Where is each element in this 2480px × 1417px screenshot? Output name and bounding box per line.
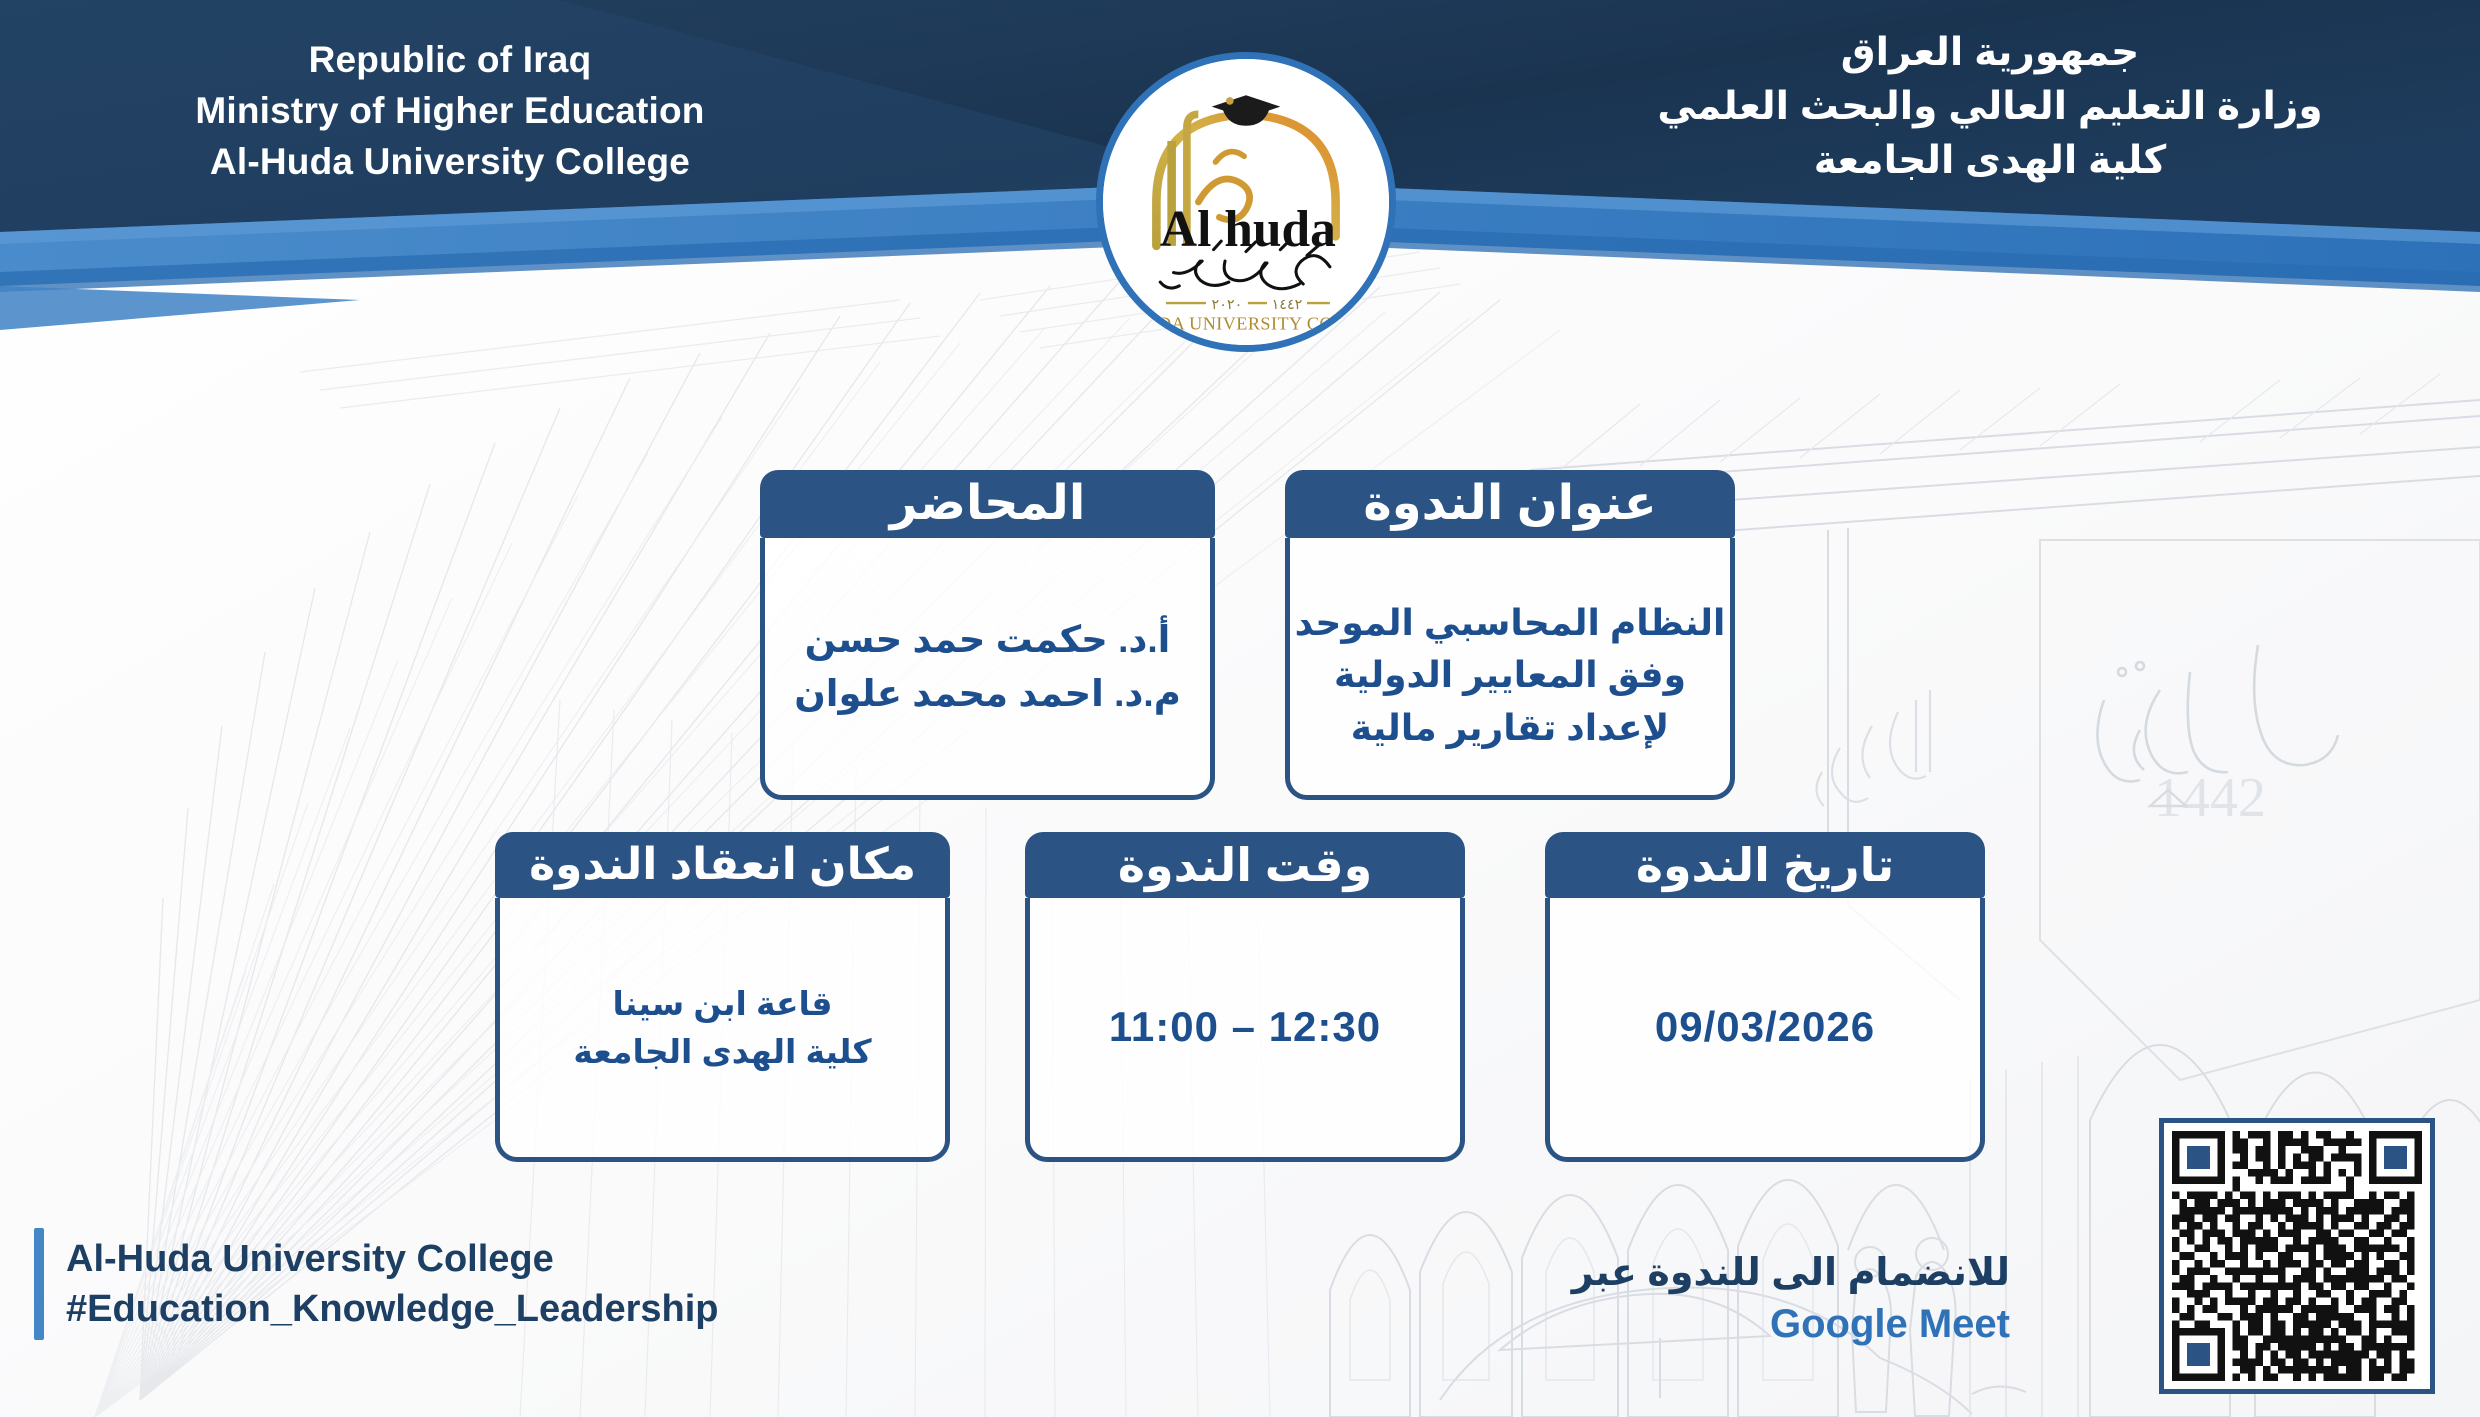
card-date: تاريخ الندوة 09/03/2026 <box>1545 832 1985 1162</box>
card-lecturer-line-1: أ.د. حكمت حمد حسن <box>805 613 1171 667</box>
join-arabic-label: للانضمام الى للندوة عبر <box>1572 1250 2010 1298</box>
card-seminar-title-body: النظام المحاسبي الموحد وفق المعايير الدو… <box>1285 538 1735 800</box>
card-venue: مكان انعقاد الندوة قاعة ابن سينا كلية ال… <box>495 832 950 1162</box>
card-lecturer: المحاضر أ.د. حكمت حمد حسن م.د. احمد محمد… <box>760 470 1215 800</box>
footer-college-name: Al-Huda University College <box>66 1234 718 1284</box>
card-lecturer-title: المحاضر <box>760 470 1215 538</box>
header-english-block: Republic of Iraq Ministry of Higher Educ… <box>0 34 900 187</box>
footer-brand-block: Al-Huda University College #Education_Kn… <box>34 1228 718 1340</box>
card-venue-body: قاعة ابن سينا كلية الهدى الجامعة <box>495 898 950 1162</box>
card-lecturer-body: أ.د. حكمت حمد حسن م.د. احمد محمد علوان <box>760 538 1215 800</box>
header-arabic-block: جمهورية العراق وزارة التعليم العالي والب… <box>1560 26 2420 187</box>
logo-caption: AL-HUDA UNIVERSITY COLLEGE <box>1103 314 1389 334</box>
logo-year-hijri: ١٤٤٢ <box>1272 297 1303 313</box>
card-date-title: تاريخ الندوة <box>1545 832 1985 898</box>
card-lecturer-line-2: م.د. احمد محمد علوان <box>794 667 1181 721</box>
card-seminar-title-line-2: وفق المعايير الدولية <box>1334 649 1686 701</box>
university-logo: Al huda ٢٠٢٠ ١٤٤٢ AL-HUDA UNIV <box>1096 52 1396 352</box>
header-ar-line-2: وزارة التعليم العالي والبحث العلمي <box>1560 80 2420 134</box>
card-venue-line-1: قاعة ابن سينا <box>612 980 832 1028</box>
logo-year-gregorian: ٢٠٢٠ <box>1212 297 1243 313</box>
header-en-line-2: Ministry of Higher Education <box>0 85 900 136</box>
header-ar-line-1: جمهورية العراق <box>1560 26 2420 80</box>
header-en-line-1: Republic of Iraq <box>0 34 900 85</box>
header-en-line-3: Al-Huda University College <box>0 136 900 187</box>
footer-accent-bar <box>34 1228 44 1340</box>
footer-hashtag: #Education_Knowledge_Leadership <box>66 1284 718 1334</box>
card-venue-title: مكان انعقاد الندوة <box>495 832 950 898</box>
join-platform-label[interactable]: Google Meet <box>1572 1298 2010 1350</box>
card-seminar-title-line-3: لإعداد تقارير مالية <box>1351 702 1669 754</box>
card-time-title: وقت الندوة <box>1025 832 1465 898</box>
header-ar-line-3: كلية الهدى الجامعة <box>1560 134 2420 188</box>
poster-root: 1442 <box>0 0 2480 1417</box>
card-seminar-title-line-1: النظام المحاسبي الموحد <box>1295 597 1726 649</box>
card-time: وقت الندوة 11:00 – 12:30 <box>1025 832 1465 1162</box>
qr-code[interactable] <box>2159 1118 2435 1394</box>
svg-text:1442: 1442 <box>2154 767 2266 829</box>
card-time-body: 11:00 – 12:30 <box>1025 898 1465 1162</box>
card-date-value: 09/03/2026 <box>1655 997 1875 1058</box>
join-meeting-block: للانضمام الى للندوة عبر Google Meet <box>1572 1250 2010 1350</box>
card-date-body: 09/03/2026 <box>1545 898 1985 1162</box>
card-seminar-title-header: عنوان الندوة <box>1285 470 1735 538</box>
card-seminar-title: عنوان الندوة النظام المحاسبي الموحد وفق … <box>1285 470 1735 800</box>
card-venue-line-2: كلية الهدى الجامعة <box>573 1028 871 1076</box>
card-time-value: 11:00 – 12:30 <box>1109 997 1381 1058</box>
